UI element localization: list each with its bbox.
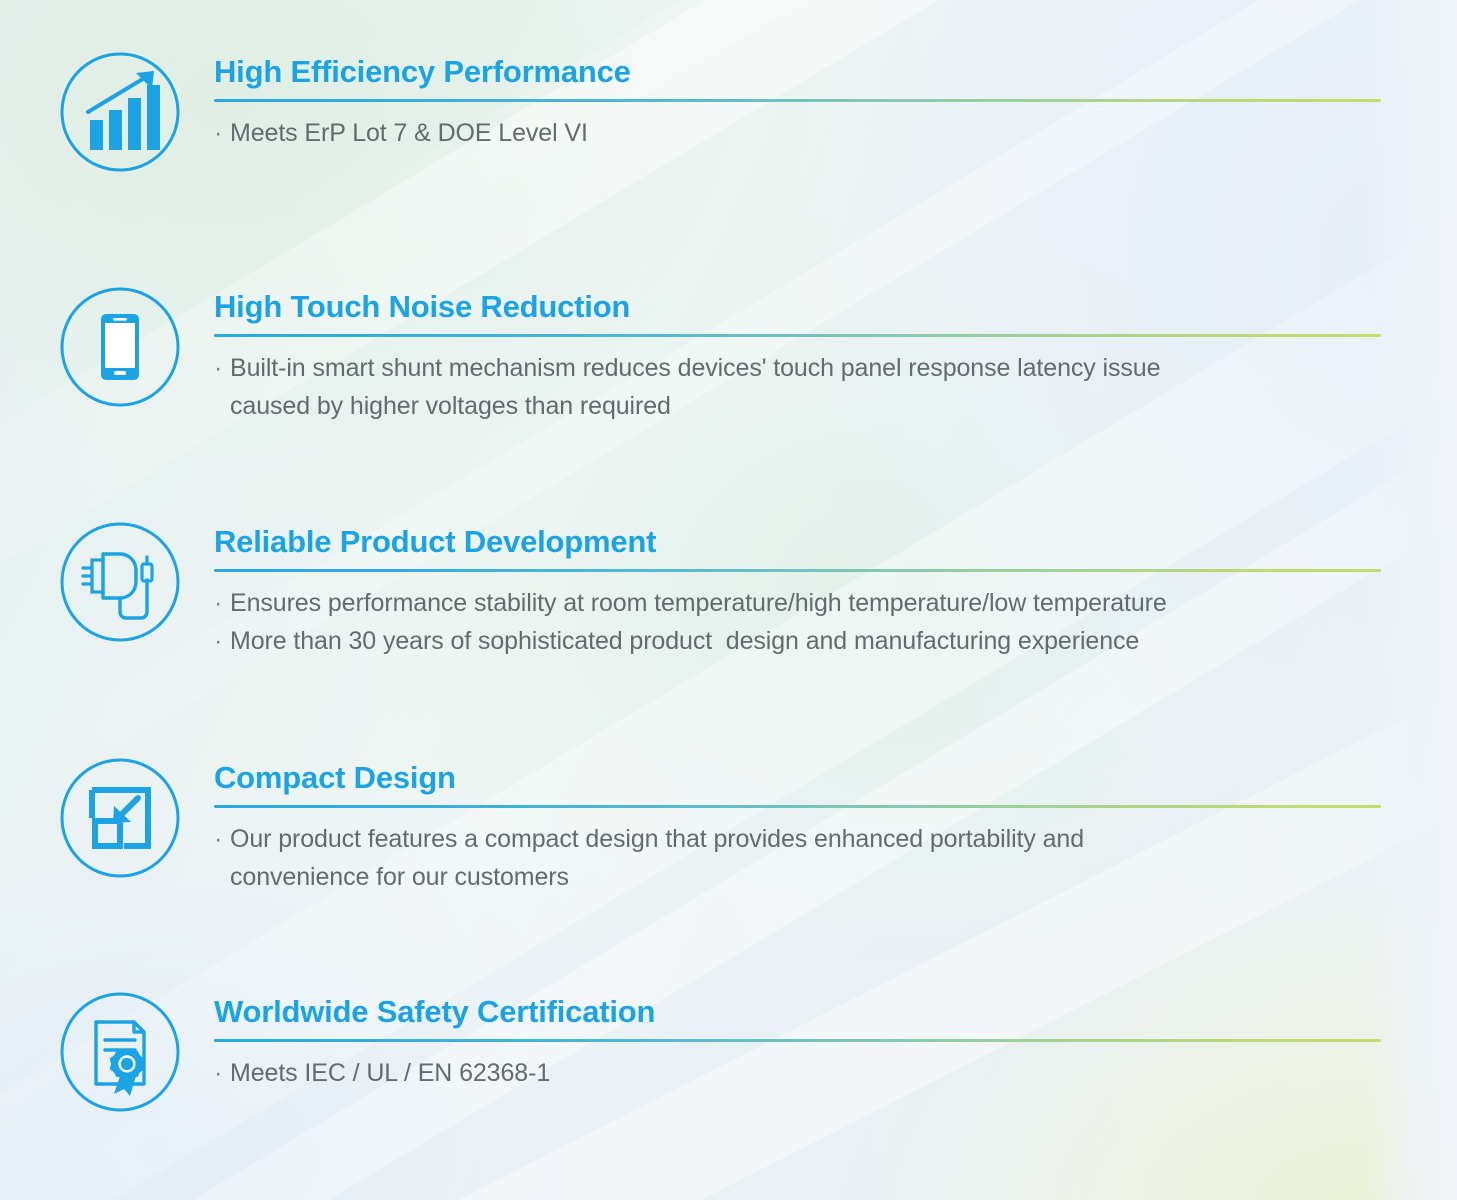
bullet-text: Meets ErP Lot 7 & DOE Level VI [230, 114, 588, 152]
bullet-marker: · [214, 114, 230, 152]
feature-body: Reliable Product Development · Ensures p… [214, 520, 1394, 660]
smartphone-icon [58, 285, 182, 409]
compact-resize-icon [58, 756, 182, 880]
bullet-text: Ensures performance stability at room te… [230, 584, 1167, 622]
feature-title: High Touch Noise Reduction [214, 287, 1394, 327]
feature-item-compact-design: Compact Design · Our product features a … [58, 756, 1394, 896]
feature-bullets: · Our product features a compact design … [214, 820, 1394, 896]
bullet-item: · Meets IEC / UL / EN 62368-1 [214, 1054, 1394, 1092]
feature-bullets: · Meets IEC / UL / EN 62368-1 [214, 1054, 1394, 1092]
bullet-text: Built-in smart shunt mechanism reduces d… [230, 349, 1160, 425]
bullet-marker: · [214, 349, 230, 425]
feature-divider [214, 99, 1381, 102]
certificate-award-icon [58, 990, 182, 1114]
feature-bullets: · Built-in smart shunt mechanism reduces… [214, 349, 1394, 425]
feature-list: High Efficiency Performance · Meets ErP … [0, 0, 1457, 1200]
feature-item-worldwide-safety-certification: Worldwide Safety Certification · Meets I… [58, 990, 1394, 1114]
bullet-marker: · [214, 820, 230, 896]
bullet-item: · Built-in smart shunt mechanism reduces… [214, 349, 1394, 425]
power-adapter-icon [58, 520, 182, 644]
bar-chart-growth-icon [58, 50, 182, 174]
feature-title: Worldwide Safety Certification [214, 992, 1394, 1032]
bullet-item: · Our product features a compact design … [214, 820, 1394, 896]
bullet-marker: · [214, 622, 230, 660]
bullet-item: · Ensures performance stability at room … [214, 584, 1394, 622]
feature-body: High Touch Noise Reduction · Built-in sm… [214, 285, 1394, 425]
bullet-text: More than 30 years of sophisticated prod… [230, 622, 1139, 660]
bullet-marker: · [214, 1054, 230, 1092]
feature-title: Reliable Product Development [214, 522, 1394, 562]
feature-item-reliable-product-development: Reliable Product Development · Ensures p… [58, 520, 1394, 660]
feature-divider [214, 569, 1381, 572]
bullet-item: · Meets ErP Lot 7 & DOE Level VI [214, 114, 1394, 152]
feature-divider [214, 805, 1381, 808]
feature-bullets: · Meets ErP Lot 7 & DOE Level VI [214, 114, 1394, 152]
bullet-text: Our product features a compact design th… [230, 820, 1084, 896]
bullet-marker: · [214, 584, 230, 622]
feature-item-high-efficiency-performance: High Efficiency Performance · Meets ErP … [58, 50, 1394, 174]
feature-body: High Efficiency Performance · Meets ErP … [214, 50, 1394, 152]
bullet-text: Meets IEC / UL / EN 62368-1 [230, 1054, 550, 1092]
feature-divider [214, 334, 1381, 337]
feature-title: Compact Design [214, 758, 1394, 798]
feature-bullets: · Ensures performance stability at room … [214, 584, 1394, 660]
feature-divider [214, 1039, 1381, 1042]
feature-body: Worldwide Safety Certification · Meets I… [214, 990, 1394, 1092]
feature-title: High Efficiency Performance [214, 52, 1394, 92]
feature-body: Compact Design · Our product features a … [214, 756, 1394, 896]
bullet-item: · More than 30 years of sophisticated pr… [214, 622, 1394, 660]
feature-item-high-touch-noise-reduction: High Touch Noise Reduction · Built-in sm… [58, 285, 1394, 425]
